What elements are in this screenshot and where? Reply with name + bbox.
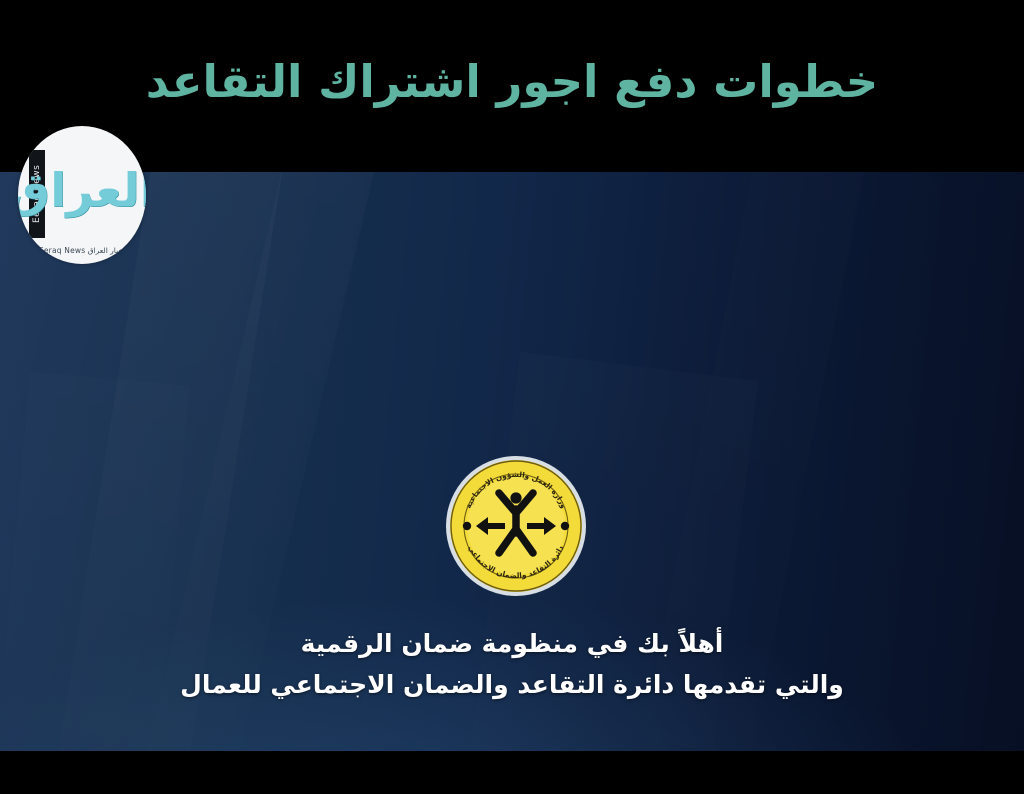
welcome-line-2: والتي تقدمها دائرة التقاعد والضمان الاجت… bbox=[0, 665, 1024, 706]
slide-screenshot: وزارة العمل والشؤون الاجتماعية دائرة الت… bbox=[0, 0, 1024, 794]
news-watermark-logo: Eeraq News العراق اخبار العراق Eeraq New… bbox=[18, 126, 146, 264]
slide-body: وزارة العمل والشؤون الاجتماعية دائرة الت… bbox=[0, 172, 1024, 751]
page-title: خطوات دفع اجور اشتراك التقاعد bbox=[0, 56, 1024, 108]
ministry-emblem-icon: وزارة العمل والشؤون الاجتماعية دائرة الت… bbox=[443, 453, 589, 599]
welcome-message: أهلاً بك في منظومة ضمان الرقمية والتي تق… bbox=[0, 624, 1024, 705]
watermark-disc: Eeraq News العراق اخبار العراق Eeraq New… bbox=[18, 126, 146, 264]
top-banner: خطوات دفع اجور اشتراك التقاعد bbox=[0, 0, 1024, 172]
watermark-arabic-name: العراق bbox=[18, 163, 146, 218]
watermark-caption: اخبار العراق Eeraq News bbox=[18, 246, 146, 255]
welcome-line-1: أهلاً بك في منظومة ضمان الرقمية bbox=[0, 624, 1024, 665]
bottom-banner bbox=[0, 751, 1024, 794]
